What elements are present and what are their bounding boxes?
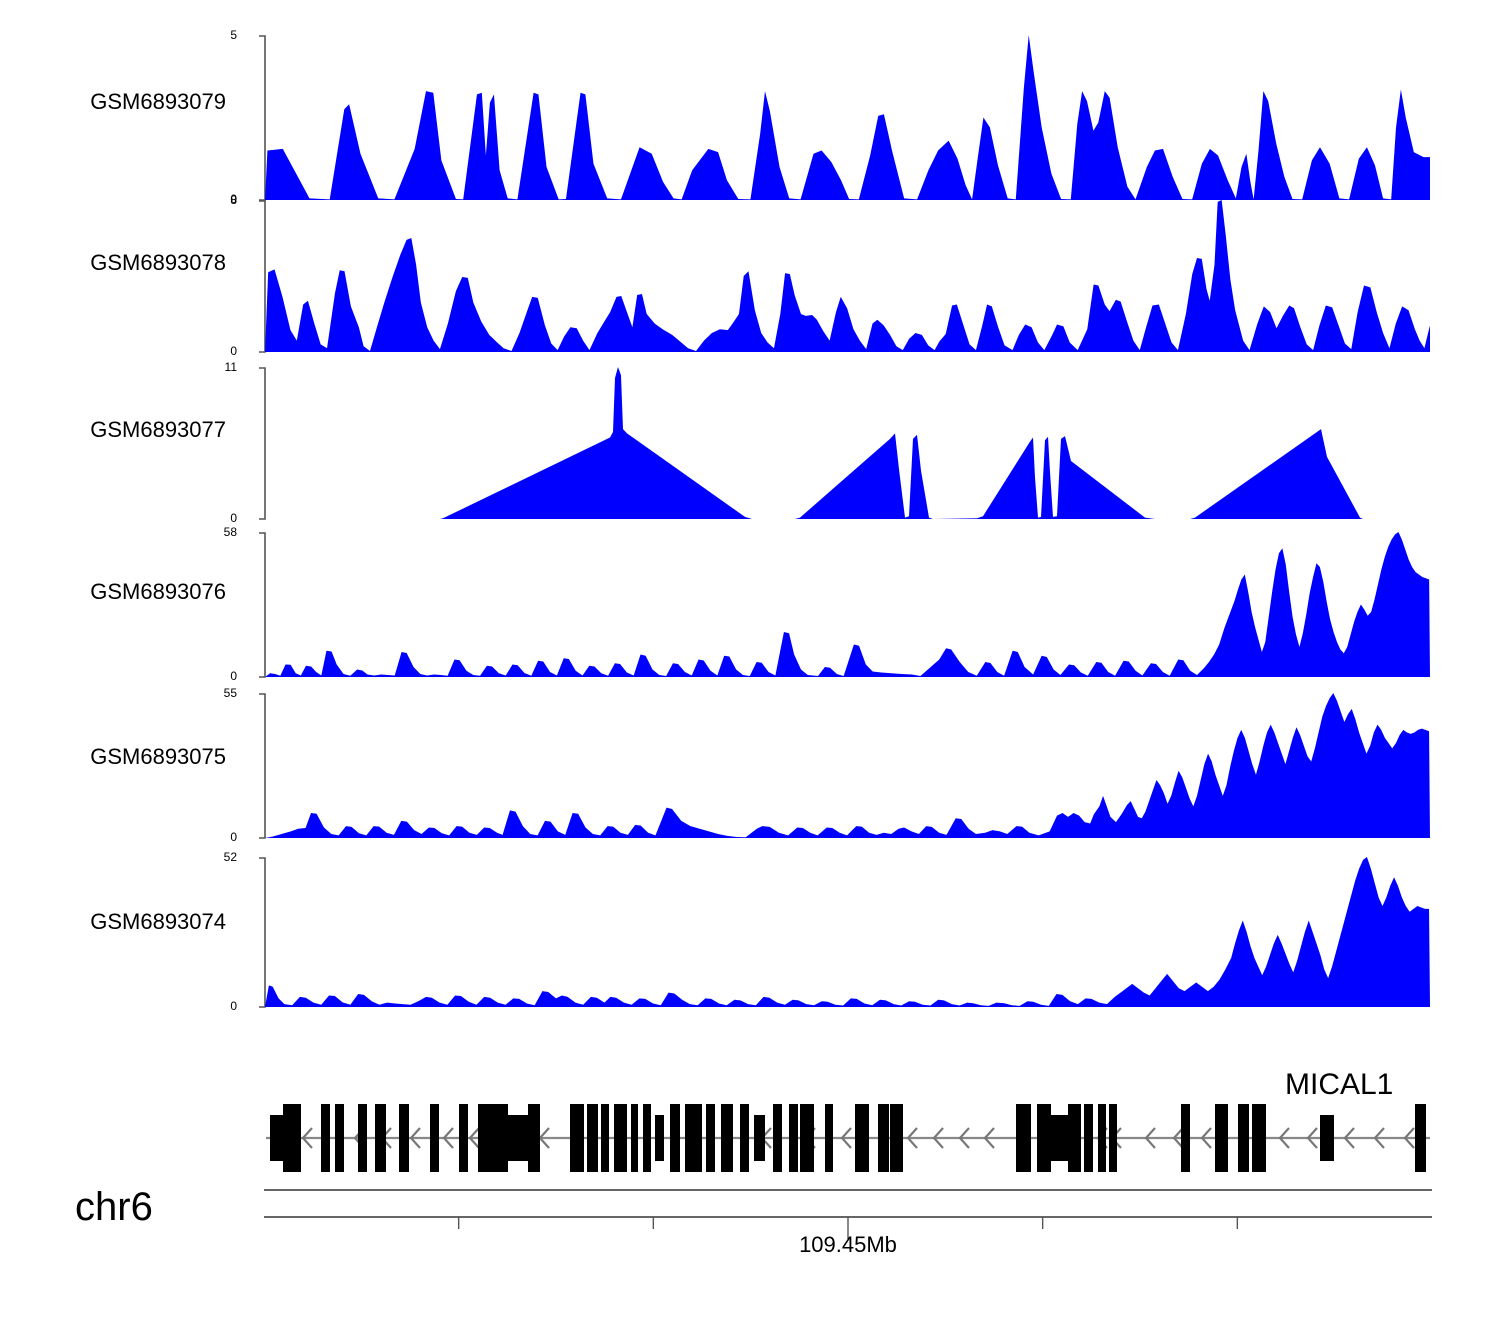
exon-box[interactable] xyxy=(1037,1104,1051,1172)
exon-box[interactable] xyxy=(399,1104,409,1172)
genome-coordinate-label: 109.45Mb xyxy=(698,1232,998,1258)
coverage-track[interactable]: GSM6893074520 xyxy=(0,857,1500,1007)
exon-box[interactable] xyxy=(878,1104,889,1172)
exon-box[interactable] xyxy=(358,1104,367,1172)
coverage-area-GSM6893079 xyxy=(265,35,1430,200)
exon-box[interactable] xyxy=(335,1104,344,1172)
exon-box[interactable] xyxy=(1098,1104,1106,1172)
track-label-GSM6893074: GSM6893074 xyxy=(0,909,226,935)
axis-max-label: 55 xyxy=(213,687,237,699)
exon-box[interactable] xyxy=(631,1104,638,1172)
track-label-GSM6893078: GSM6893078 xyxy=(0,250,226,276)
axis-max-label: 8 xyxy=(213,194,237,206)
exon-box[interactable] xyxy=(706,1104,715,1172)
exon-box[interactable] xyxy=(1238,1104,1249,1172)
exon-box[interactable] xyxy=(740,1104,749,1172)
coverage-area-GSM6893077 xyxy=(265,367,1430,519)
exon-box[interactable] xyxy=(1215,1104,1228,1172)
track-label-GSM6893075: GSM6893075 xyxy=(0,744,226,770)
exon-box[interactable] xyxy=(375,1104,386,1172)
coverage-track[interactable]: GSM6893076580 xyxy=(0,532,1500,677)
exon-box[interactable] xyxy=(685,1104,702,1172)
exon-box[interactable] xyxy=(1016,1104,1031,1172)
gene-name-label: MICAL1 xyxy=(1285,1068,1393,1102)
exon-box[interactable] xyxy=(890,1104,903,1172)
exon-box[interactable] xyxy=(1181,1104,1190,1172)
exon-box[interactable] xyxy=(587,1104,598,1172)
exon-box[interactable] xyxy=(614,1104,627,1172)
exon-box[interactable] xyxy=(1084,1104,1093,1172)
exon-box[interactable] xyxy=(1109,1104,1117,1172)
exon-box[interactable] xyxy=(825,1104,833,1172)
exon-box[interactable] xyxy=(773,1104,782,1172)
genome-axis-ruler xyxy=(0,1180,1500,1240)
axis-max-label: 11 xyxy=(213,361,237,373)
exon-box[interactable] xyxy=(283,1104,301,1172)
exon-box[interactable] xyxy=(459,1104,468,1172)
exon-box[interactable] xyxy=(670,1104,680,1172)
exon-box[interactable] xyxy=(855,1104,869,1172)
track-label-GSM6893076: GSM6893076 xyxy=(0,579,226,605)
coverage-track[interactable]: GSM6893077110 xyxy=(0,367,1500,519)
exon-box[interactable] xyxy=(643,1104,651,1172)
exon-box[interactable] xyxy=(1068,1104,1081,1172)
exon-box[interactable] xyxy=(1252,1104,1266,1172)
axis-min-label: 0 xyxy=(213,670,237,682)
coverage-track[interactable]: GSM6893075550 xyxy=(0,693,1500,838)
exon-box[interactable] xyxy=(570,1104,584,1172)
exon-box[interactable] xyxy=(789,1104,798,1172)
exon-box[interactable] xyxy=(1415,1104,1426,1172)
coverage-track[interactable]: GSM689307880 xyxy=(0,200,1500,352)
genome-browser-figure: GSM689307950GSM689307880GSM6893077110GSM… xyxy=(0,0,1500,1320)
coverage-area-GSM6893076 xyxy=(265,532,1430,677)
exon-box[interactable] xyxy=(528,1104,540,1172)
exon-box[interactable] xyxy=(1320,1115,1334,1161)
coverage-area-GSM6893078 xyxy=(265,200,1430,352)
axis-min-label: 0 xyxy=(213,512,237,524)
exon-box[interactable] xyxy=(430,1104,439,1172)
track-label-GSM6893077: GSM6893077 xyxy=(0,417,226,443)
exon-box[interactable] xyxy=(655,1115,664,1161)
exon-box[interactable] xyxy=(721,1104,733,1172)
axis-min-label: 0 xyxy=(213,345,237,357)
axis-max-label: 5 xyxy=(213,29,237,41)
exon-box[interactable] xyxy=(508,1115,528,1161)
coverage-area-GSM6893075 xyxy=(265,693,1430,838)
axis-min-label: 0 xyxy=(213,831,237,843)
axis-min-label: 0 xyxy=(213,1000,237,1012)
coverage-area-GSM6893074 xyxy=(265,857,1430,1007)
axis-max-label: 58 xyxy=(213,526,237,538)
exon-box[interactable] xyxy=(754,1115,765,1161)
axis-max-label: 52 xyxy=(213,851,237,863)
exon-box[interactable] xyxy=(800,1104,814,1172)
exon-box[interactable] xyxy=(478,1104,508,1172)
coverage-track[interactable]: GSM689307950 xyxy=(0,35,1500,200)
exon-box[interactable] xyxy=(321,1104,330,1172)
track-label-GSM6893079: GSM6893079 xyxy=(0,89,226,115)
exon-box[interactable] xyxy=(601,1104,609,1172)
